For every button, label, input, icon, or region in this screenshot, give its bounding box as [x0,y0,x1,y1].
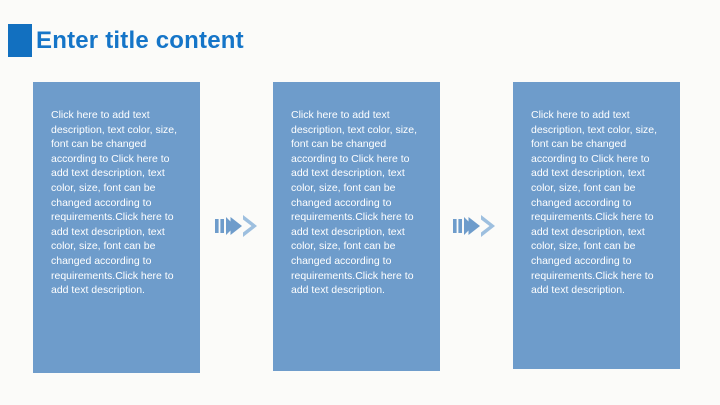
slide-canvas: Enter title content Click here to add te… [0,0,720,405]
connector-2 [452,211,496,241]
panel-1-body-text: Click here to add text description, text… [51,108,184,298]
panel-2-body-text: Click here to add text description, text… [291,108,424,298]
connector-1 [214,211,258,241]
content-panel-3[interactable]: Click here to add text description, text… [513,82,680,369]
arrow-right-icon [452,211,496,241]
panel-3-body-text: Click here to add text description, text… [531,108,664,298]
content-panel-1[interactable]: Click here to add text description, text… [33,82,200,373]
arrow-right-icon [214,211,258,241]
content-panel-2[interactable]: Click here to add text description, text… [273,82,440,371]
content-columns: Click here to add text description, text… [0,0,720,405]
